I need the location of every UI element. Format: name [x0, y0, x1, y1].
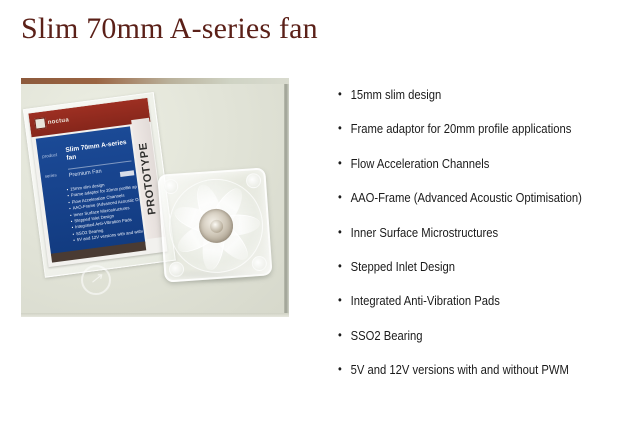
transparent-fan [157, 167, 272, 282]
photo-bottom-edge [21, 313, 289, 317]
photo-right-edge [284, 84, 289, 317]
list-item: Flow Acceleration Channels [338, 157, 601, 171]
photo-top-strip [21, 78, 289, 84]
product-photo: noctua product series Slim 70mm A-series… [21, 78, 289, 317]
list-item: SSO2 Bearing [338, 329, 601, 343]
card-title: Slim 70mm A-series fan [65, 139, 131, 163]
photo-watermark: ↗ [81, 265, 111, 295]
page-title: Slim 70mm A-series fan [21, 10, 318, 48]
fan-hub-center [209, 219, 223, 233]
list-item: Frame adaptor for 20mm profile applicati… [338, 122, 601, 136]
list-item: AAO-Frame (Advanced Acoustic Optimisatio… [338, 191, 601, 205]
card-feature-list: 15mm slim design Frame adaptor for 20mm … [66, 178, 143, 244]
noctua-logo-text: noctua [47, 117, 69, 126]
card-label-product: product [42, 152, 58, 159]
card-tag [120, 170, 135, 177]
list-item: Integrated Anti-Vibration Pads [338, 294, 601, 308]
acrylic-card-stand: noctua product series Slim 70mm A-series… [28, 98, 167, 267]
noctua-logo: noctua [34, 114, 70, 129]
list-item: 5V and 12V versions with and without PWM [338, 363, 601, 377]
product-info-card: noctua product series Slim 70mm A-series… [28, 98, 167, 267]
list-item: Stepped Inlet Design [338, 260, 601, 274]
feature-list: 15mm slim design Frame adaptor for 20mm … [338, 88, 630, 398]
list-item: 15mm slim design [338, 88, 601, 102]
card-label-series: series [44, 172, 57, 179]
list-item: Inner Surface Microstructures [338, 226, 601, 240]
card-body: product series Slim 70mm A-series fan Pr… [36, 126, 146, 255]
noctua-logo-mark [34, 117, 46, 129]
